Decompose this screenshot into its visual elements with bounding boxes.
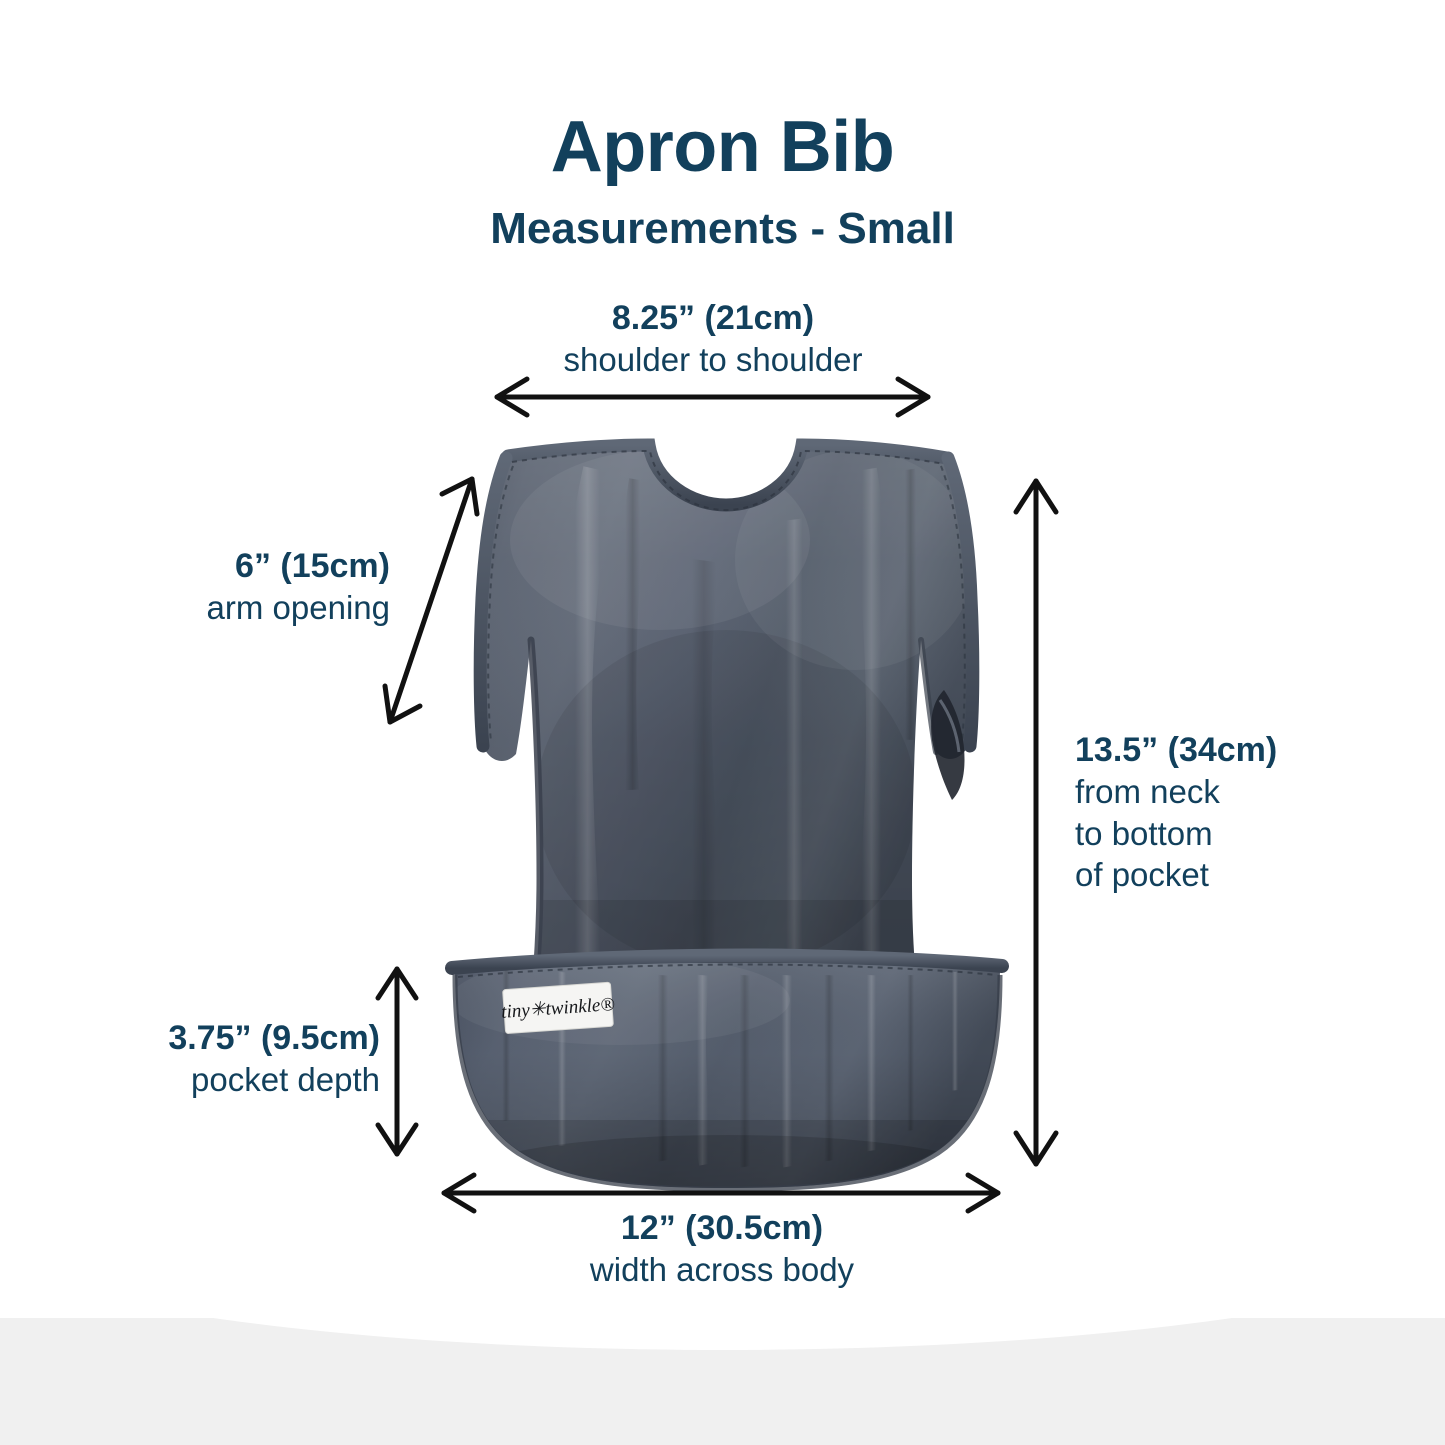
arrow-shoulder-to-shoulder [497,379,928,415]
label-height-value: 13.5” (34cm) [1075,730,1405,771]
bib-garment: tiny✳twinkle® [450,444,1002,1215]
label-shoulder-value: 8.25” (21cm) [423,298,1003,339]
label-neck-to-pocket: 13.5” (34cm) from neck to bottom of pock… [1075,730,1405,895]
label-shoulder-description: shoulder to shoulder [423,339,1003,380]
label-arm-description: arm opening [20,587,390,628]
label-height-line-3: of pocket [1075,854,1405,895]
label-arm-opening: 6” (15cm) arm opening [20,546,390,629]
arrow-pocket-depth [378,969,416,1154]
brand-tag: tiny✳twinkle® [500,982,617,1034]
label-pocket-depth: 3.75” (9.5cm) pocket depth [10,1018,380,1101]
label-height-line-2: to bottom [1075,813,1405,854]
bib-body [470,444,990,990]
label-width-description: width across body [432,1249,1012,1290]
label-shoulder-to-shoulder: 8.25” (21cm) shoulder to shoulder [423,298,1003,381]
label-pocket-value: 3.75” (9.5cm) [10,1018,380,1059]
arrow-arm-opening [385,479,477,722]
label-width-value: 12” (30.5cm) [432,1208,1012,1249]
measurement-diagram: Apron Bib Measurements - Small [0,0,1445,1445]
label-width-across-body: 12” (30.5cm) width across body [432,1208,1012,1291]
label-pocket-description: pocket depth [10,1059,380,1100]
label-arm-value: 6” (15cm) [20,546,390,587]
label-height-line-1: from neck [1075,771,1405,812]
arrow-neck-to-pocket [1016,481,1056,1164]
